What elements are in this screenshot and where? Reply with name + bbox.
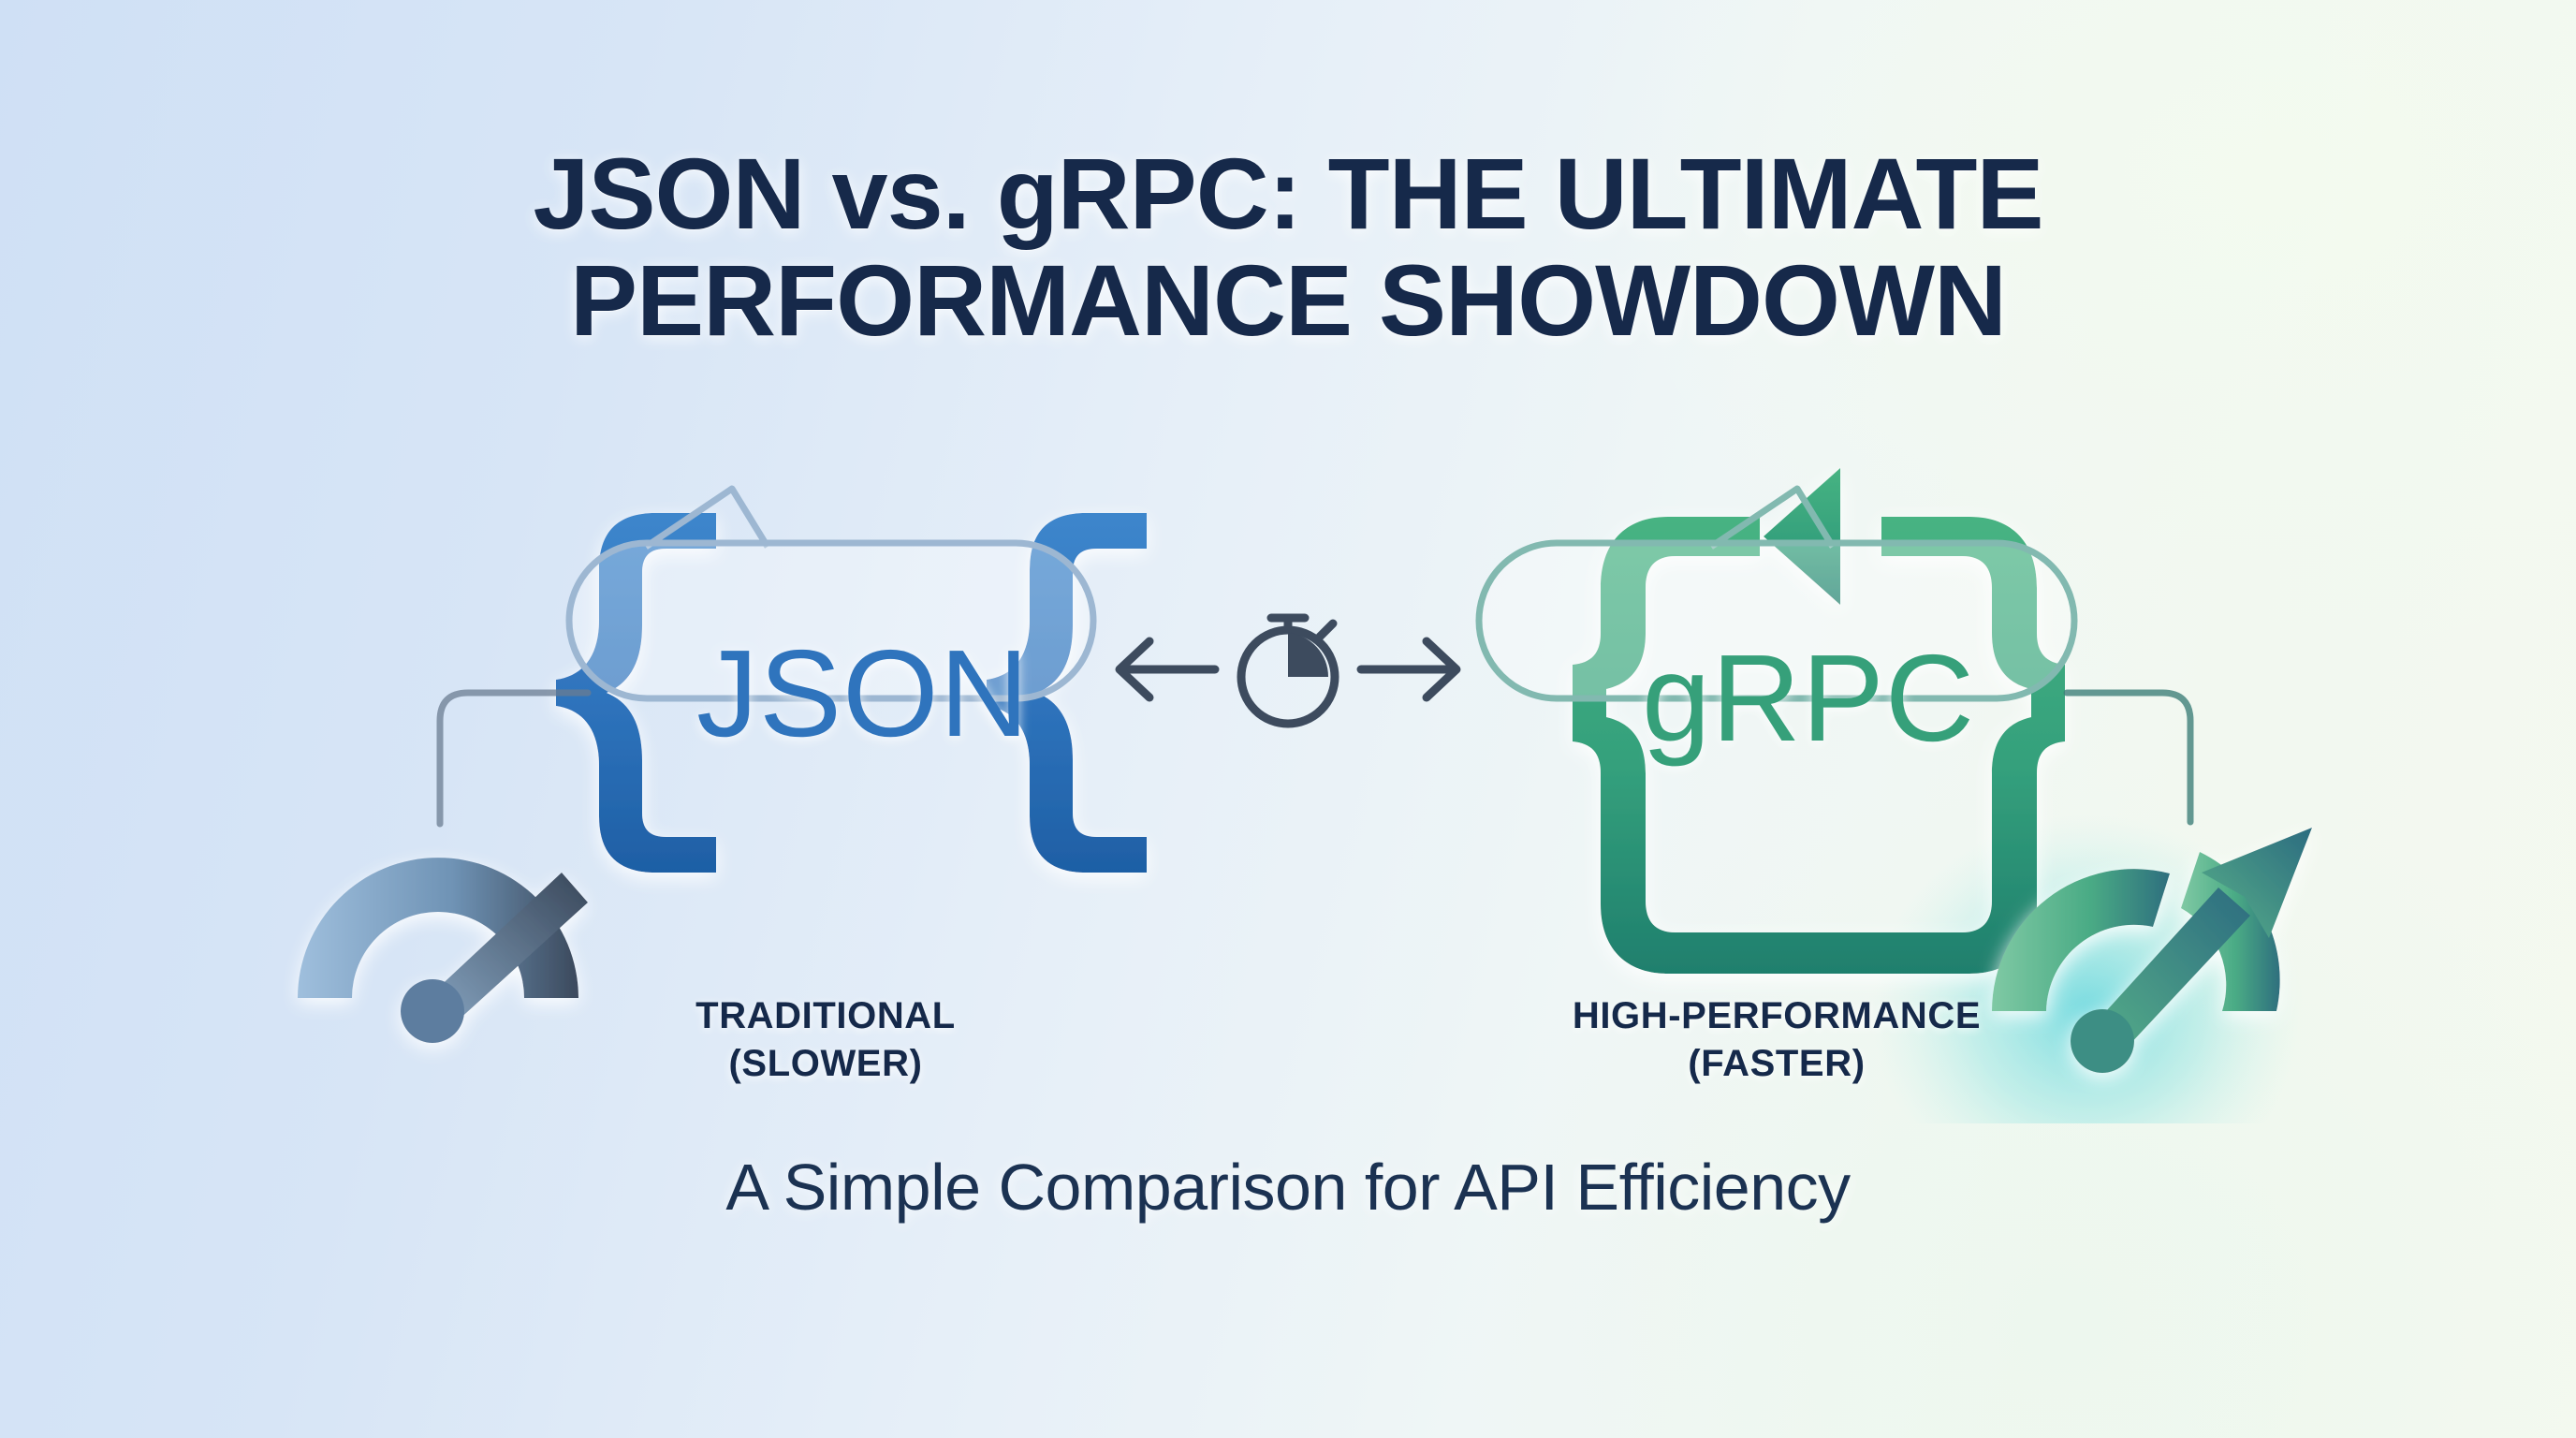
json-label: JSON — [696, 623, 1030, 764]
traditional-line-1: TRADITIONAL — [695, 995, 956, 1036]
traditional-label-text: TRADITIONAL (SLOWER) — [573, 992, 1078, 1088]
page-title: JSON vs. gRPC: THE ULTIMATE PERFORMANCE … — [0, 140, 2576, 355]
slow-gauge-icon — [298, 858, 588, 1043]
page-subtitle: A Simple Comparison for API Efficiency — [0, 1150, 2576, 1225]
traditional-line-2: (SLOWER) — [573, 1040, 1078, 1088]
high-performance-line-1: HIGH-PERFORMANCE — [1573, 995, 1981, 1036]
high-performance-line-2: (FASTER) — [1486, 1040, 2067, 1088]
infographic-canvas: JSON vs. gRPC: THE ULTIMATE PERFORMANCE … — [0, 0, 2576, 1438]
arrow-right-icon — [1361, 641, 1456, 697]
comparison-graphic: JSON gRPC TRADITIONAL (SLOWER) HIGH-PERF… — [0, 449, 2576, 1123]
grpc-label: gRPC — [1642, 627, 1975, 769]
title-line-2: PERFORMANCE SHOWDOWN — [0, 247, 2576, 354]
stopwatch-icon — [1241, 618, 1335, 724]
right-connector-line — [2067, 693, 2190, 822]
left-connector-line — [440, 693, 588, 824]
comparison-illustration — [0, 449, 2576, 1123]
arrow-left-icon — [1120, 641, 1215, 697]
title-line-1: JSON vs. gRPC: THE ULTIMATE — [533, 137, 2042, 250]
high-performance-label-text: HIGH-PERFORMANCE (FASTER) — [1486, 992, 2067, 1088]
